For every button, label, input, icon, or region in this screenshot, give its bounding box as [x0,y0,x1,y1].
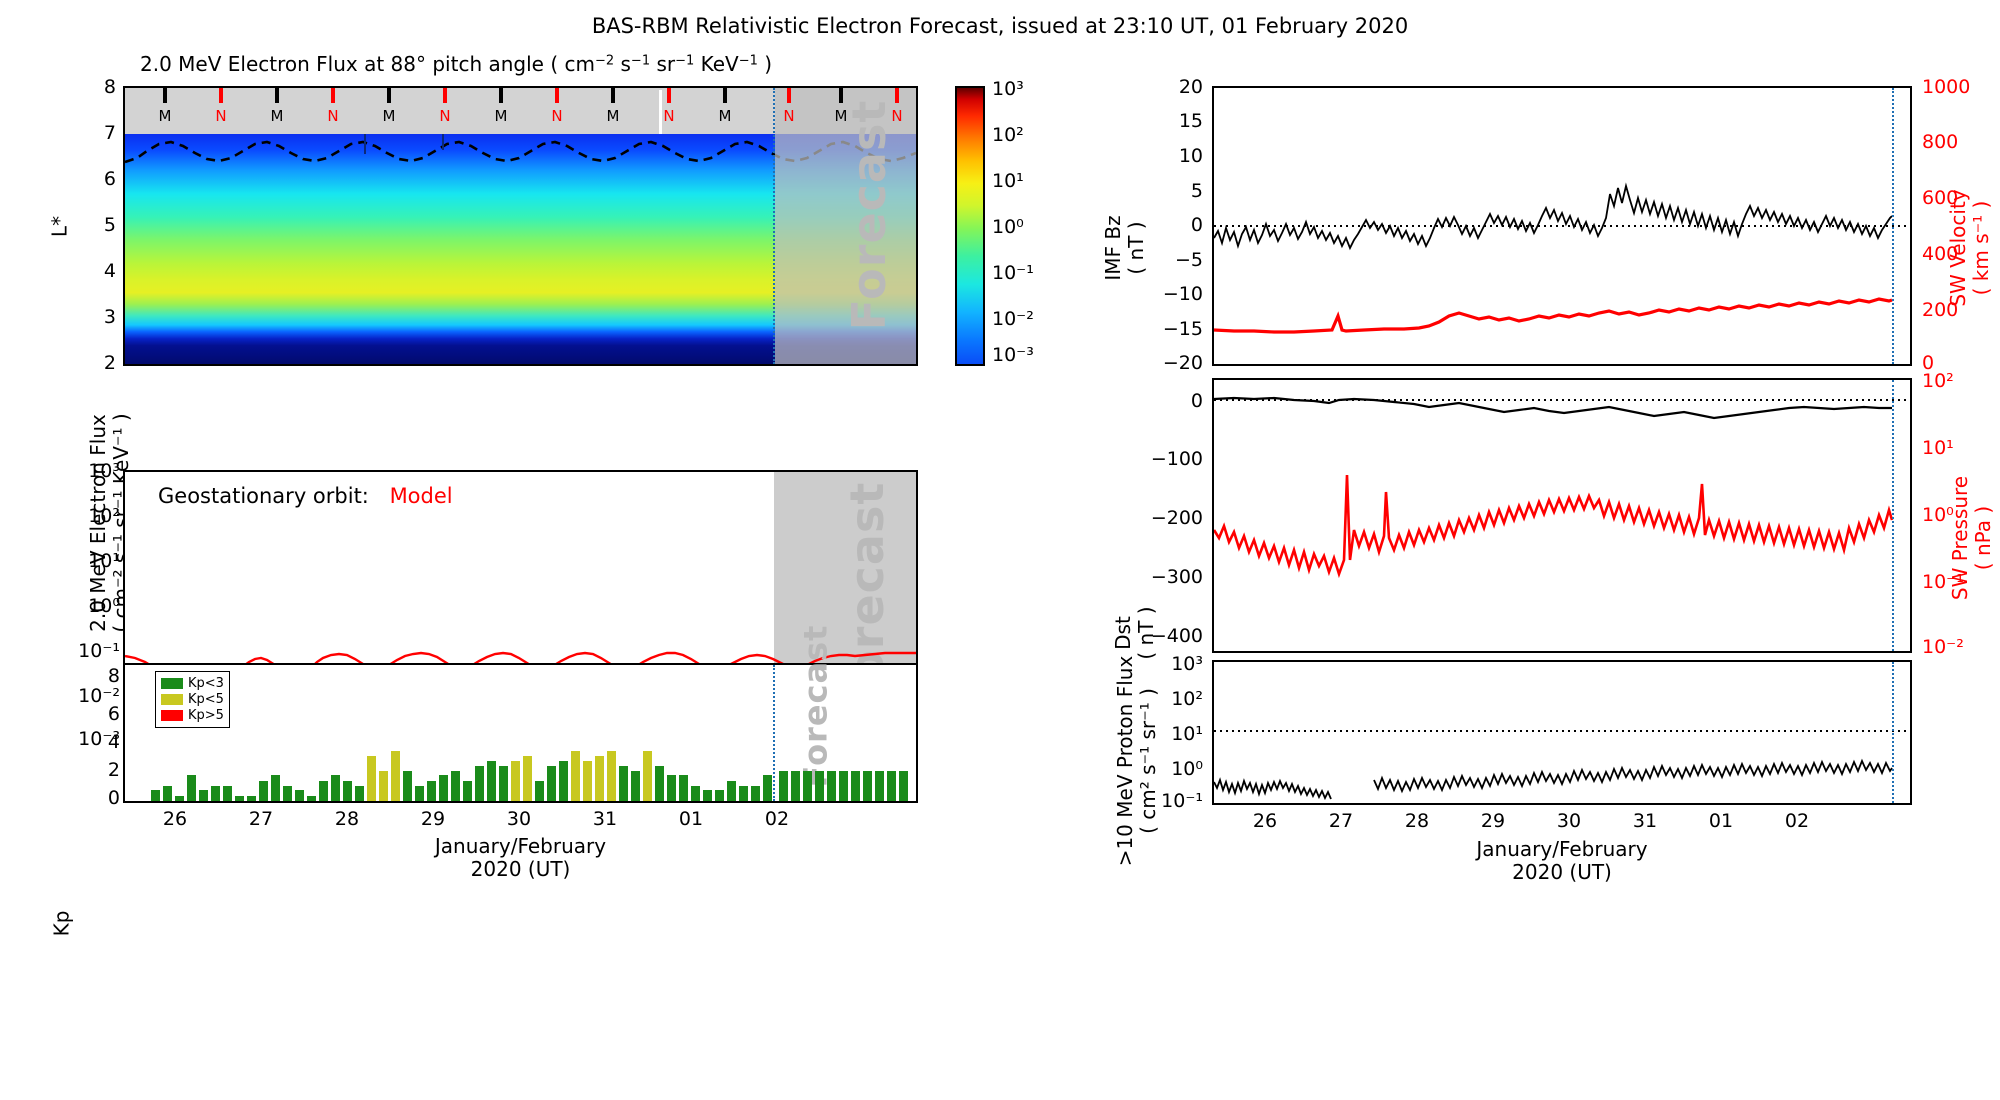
proton-xtick-28: 28 [1397,810,1437,832]
geo-ytick-1e1: 10¹ [78,550,120,572]
unit-sr: sr [650,52,675,76]
kp-xtick-27: 27 [241,808,281,830]
kp-plot[interactable]: Forecast Kp<3 Kp<5 Kp>5 [123,663,918,803]
kp-xtick-29: 29 [413,808,453,830]
flux-title-lead: 2.0 MeV Electron Flux at 88 [140,52,416,76]
proton-ytick-1e1: 10¹ [1150,723,1203,745]
proton-xtick-30: 30 [1549,810,1589,832]
proton-ytick-1e3: 10³ [1150,653,1203,675]
mn-label-4: M [375,107,403,125]
dst-series [1214,380,1910,651]
kp-ytick-2: 2 [80,759,120,781]
forecast-divider-proton [1892,662,1894,803]
kp-xtick-26: 26 [155,808,195,830]
mn-label-10: M [711,107,739,125]
exp-2: −1 [631,54,650,69]
kp-xtick-28: 28 [327,808,367,830]
geo-ytick-1em1: 10⁻¹ [78,640,120,662]
dst-plot[interactable] [1212,378,1912,653]
proton-xlabel-l2: 2020 (UT) [1212,861,1912,884]
kp-ytick-8: 8 [80,665,120,687]
kp-xtick-01: 01 [671,808,711,830]
geo-ytick-1e2: 10² [78,505,120,527]
cbar-tick-0.1: 10⁻¹ [992,262,1034,284]
mn-label-6: M [487,107,515,125]
mn-label-13: N [883,107,911,125]
proton-xlabel-l1: January/February [1212,838,1912,861]
kp-xtick-31: 31 [585,808,625,830]
imf-ytick-m15: −15 [1149,318,1203,340]
page-title: BAS-RBM Relativistic Electron Forecast, … [0,14,2000,38]
flux-ytick-8: 8 [78,76,116,98]
dst-ylabel-right: SW Pressure ( nPa ) [1949,428,1995,648]
imf-ylabel-l1: IMF Bz [1102,158,1125,338]
swv-ylabel-l1: SW Velocity [1947,138,1970,358]
flux-map-title: 2.0 MeV Electron Flux at 88° pitch angle… [140,52,840,76]
flux-ytick-4: 4 [78,260,116,282]
mn-label-0: M [151,107,179,125]
proton-xtick-26: 26 [1245,810,1285,832]
dst-ytick-m100: −100 [1134,448,1203,470]
swv-ytick-1000: 1000 [1922,76,1992,98]
cbar-tick-1: 10⁰ [992,216,1024,238]
kp-bars [125,665,916,801]
imf-ylabel-right: SW Velocity ( km s⁻¹ ) [1947,138,1993,358]
mn-label-3: N [319,107,347,125]
proton-xtick-02: 02 [1777,810,1817,832]
mn-label-9: N [655,107,683,125]
mn-label-11: N [775,107,803,125]
proton-xlabel: January/February 2020 (UT) [1212,838,1912,884]
proton-flux-plot[interactable] [1212,660,1912,805]
flux-heatmap-plot[interactable]: Forecast M N M N M N M N M N M N M N [123,86,918,366]
dst-ytick-m300: −300 [1134,566,1203,588]
cbar-tick-1000: 10³ [992,78,1024,100]
flux-title-close: ) [758,52,772,76]
imf-ytick-m10: −10 [1149,283,1203,305]
imf-ytick-15: 15 [1155,110,1203,132]
swp-ylabel-l1: SW Pressure [1949,428,1972,648]
proton-xtick-31: 31 [1625,810,1665,832]
mn-label-8: M [599,107,627,125]
mn-label-5: N [431,107,459,125]
imf-ytick-10: 10 [1155,145,1203,167]
degree-symbol: ° [416,52,426,76]
flux-ytick-2: 2 [78,352,116,374]
proton-xtick-01: 01 [1701,810,1741,832]
imf-series [1214,88,1910,364]
imf-ylabel-left: IMF Bz ( nT ) [1102,158,1148,338]
kp-xlabel: January/February 2020 (UT) [123,835,918,881]
geo-ytick-1e3: 10³ [78,460,120,482]
mn-label-2: M [263,107,291,125]
exp-3: −1 [675,54,694,69]
cbar-tick-10: 10¹ [992,170,1024,192]
kp-xlabel-l2: 2020 (UT) [123,858,918,881]
flux-ytick-6: 6 [78,168,116,190]
proton-ytick-1e0: 10⁰ [1150,758,1203,780]
swv-ylabel-l2: ( km s⁻¹ ) [1970,138,1993,358]
dst-ytick-m200: −200 [1134,507,1203,529]
unit-s: s [614,52,631,76]
kp-xtick-30: 30 [499,808,539,830]
proton-series [1214,662,1910,803]
kp-ytick-4: 4 [80,731,120,753]
imf-ytick-20: 20 [1155,76,1203,98]
imf-ytick-m5: −5 [1149,249,1203,271]
forecast-divider-imf [1892,88,1894,364]
proton-ytick-1em1: 10⁻¹ [1150,790,1203,812]
imf-bz-plot[interactable] [1212,86,1912,366]
forecast-divider-dst [1892,380,1894,651]
swp-ylabel-l2: ( nPa ) [1972,428,1995,648]
mn-label-12: M [827,107,855,125]
kp-xlabel-l1: January/February [123,835,918,858]
kp-xtick-02: 02 [757,808,797,830]
dst-ytick-0: 0 [1150,390,1203,412]
mn-label-1: N [207,107,235,125]
proton-xtick-29: 29 [1473,810,1513,832]
imf-ylabel-l2: ( nT ) [1125,158,1148,338]
kp-ylabel: Kp [51,884,74,964]
flux-title-mid: pitch angle ( cm [426,52,595,76]
flux-ytick-7: 7 [78,122,116,144]
unit-kev: KeV [694,52,738,76]
exp-4: −1 [739,54,758,69]
exp-1: −2 [595,54,614,69]
kp-ytick-0: 0 [80,787,120,809]
flux-colorbar[interactable] [955,86,985,366]
swp-ytick-1e2: 10² [1922,370,1992,392]
cbar-tick-0.001: 10⁻³ [992,344,1034,366]
proton-ytick-1e2: 10² [1150,688,1203,710]
proton-xtick-27: 27 [1321,810,1361,832]
geo-ytick-1e0: 10⁰ [78,595,120,617]
imf-ytick-0: 0 [1155,214,1203,236]
imf-ytick-5: 5 [1155,180,1203,202]
cbar-tick-100: 10² [992,124,1024,146]
flux-map-ylabel: L* [49,197,72,257]
flux-ytick-5: 5 [78,214,116,236]
imf-ytick-m20: −20 [1149,352,1203,374]
flux-ytick-3: 3 [78,306,116,328]
kp-ytick-6: 6 [80,703,120,725]
proton-ylabel-l1: >10 MeV Proton Flux [1114,606,1137,916]
cbar-tick-0.01: 10⁻² [992,308,1034,330]
mn-label-7: N [543,107,571,125]
